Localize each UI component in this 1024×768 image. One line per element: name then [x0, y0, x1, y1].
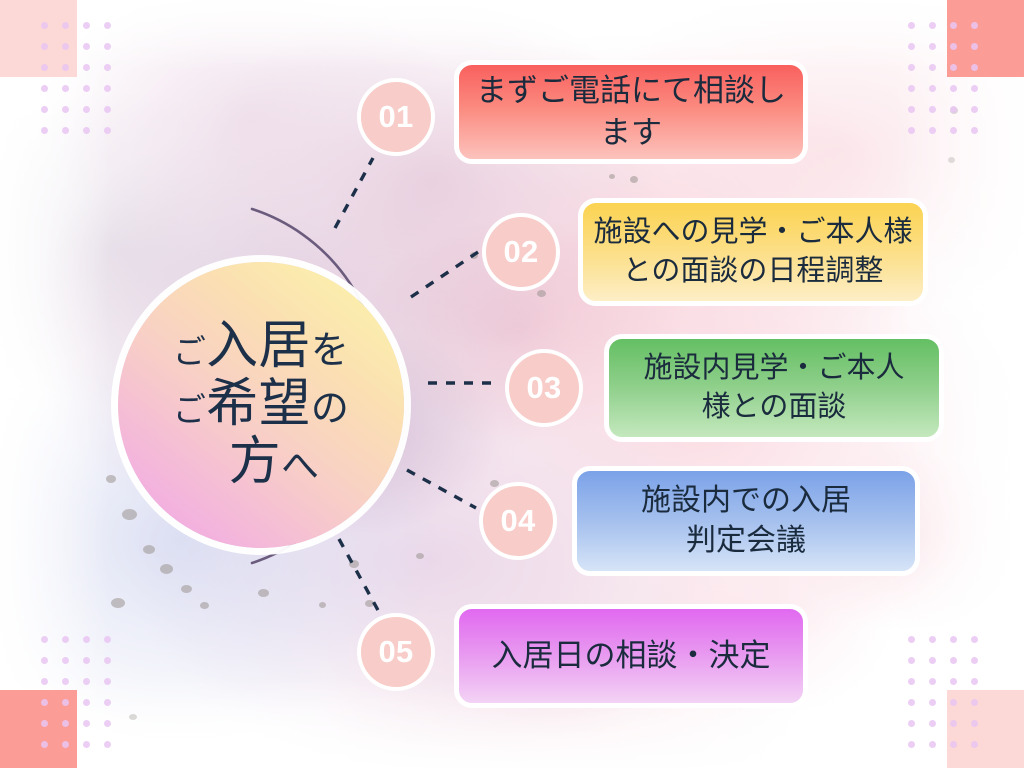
grid-dot — [950, 22, 957, 29]
step-number-02[interactable]: 02 — [482, 213, 560, 291]
step-number-01[interactable]: 01 — [357, 78, 435, 156]
grid-dot — [83, 22, 90, 29]
grid-dot — [104, 43, 111, 50]
grid-dot — [83, 43, 90, 50]
grid-dot — [950, 678, 957, 685]
dot-grid-top-right — [908, 22, 998, 152]
connector-02 — [411, 252, 478, 297]
grid-dot — [62, 636, 69, 643]
grid-dot — [929, 699, 936, 706]
grid-dot — [83, 127, 90, 134]
grid-dot — [950, 43, 957, 50]
grid-dot — [104, 678, 111, 685]
grid-dot — [41, 127, 48, 134]
dot-grid-bottom-right — [908, 636, 998, 766]
dot-grid-top-left — [41, 22, 131, 152]
grid-dot — [83, 636, 90, 643]
step-number-04[interactable]: 04 — [479, 482, 557, 560]
grid-dot — [971, 699, 978, 706]
grid-dot — [929, 43, 936, 50]
grid-dot — [83, 741, 90, 748]
grid-dot — [908, 741, 915, 748]
grid-dot — [950, 106, 957, 113]
grid-dot — [62, 85, 69, 92]
grid-dot — [971, 64, 978, 71]
grid-dot — [62, 127, 69, 134]
grid-dot — [929, 106, 936, 113]
grid-dot — [83, 720, 90, 727]
grid-dot — [41, 636, 48, 643]
center-text-line-2: ご 希望 の — [173, 379, 349, 431]
step-box-02-label: 施設への見学・ご本人様 との面談の日程調整 — [583, 213, 922, 291]
center-line-1-trailing: を — [311, 332, 349, 370]
grid-dot — [971, 636, 978, 643]
connector-05 — [339, 539, 379, 612]
grid-dot — [971, 678, 978, 685]
step-box-01[interactable]: まずご電話にて相談します — [454, 60, 808, 164]
center-circle-text: ご 入居 を ご 希望 の 方 へ — [118, 262, 404, 548]
grid-dot — [971, 741, 978, 748]
grid-dot — [908, 636, 915, 643]
grid-dot — [41, 720, 48, 727]
dot-grid-bottom-left — [41, 636, 131, 766]
grid-dot — [908, 678, 915, 685]
grid-dot — [83, 106, 90, 113]
grid-dot — [104, 741, 111, 748]
grid-dot — [929, 85, 936, 92]
grid-dot — [908, 22, 915, 29]
step-number-03[interactable]: 03 — [505, 349, 583, 427]
grid-dot — [104, 699, 111, 706]
grid-dot — [971, 22, 978, 29]
connector-01 — [335, 158, 373, 228]
step-box-04-label: 施設内での入居 判定会議 — [631, 481, 861, 561]
step-box-05-label: 入居日の相談・決定 — [482, 635, 781, 677]
grid-dot — [83, 64, 90, 71]
grid-dot — [971, 43, 978, 50]
grid-dot — [950, 127, 957, 134]
grid-dot — [950, 657, 957, 664]
grid-dot — [62, 657, 69, 664]
grid-dot — [41, 106, 48, 113]
step-box-02[interactable]: 施設への見学・ご本人様 との面談の日程調整 — [578, 198, 928, 306]
step-box-01-label: まずご電話にて相談します — [459, 70, 803, 153]
center-line-1-large: 入居 — [206, 321, 311, 373]
grid-dot — [104, 636, 111, 643]
grid-dot — [41, 22, 48, 29]
grid-dot — [104, 22, 111, 29]
step-box-03-label: 施設内見学・ご本人 様との面談 — [633, 349, 914, 427]
grid-dot — [104, 657, 111, 664]
grid-dot — [41, 678, 48, 685]
grid-dot — [950, 699, 957, 706]
grid-dot — [41, 699, 48, 706]
grid-dot — [908, 106, 915, 113]
grid-dot — [908, 699, 915, 706]
grid-dot — [929, 720, 936, 727]
grid-dot — [908, 657, 915, 664]
center-line-2-small: ご — [173, 395, 206, 428]
grid-dot — [104, 85, 111, 92]
grid-dot — [929, 64, 936, 71]
grid-dot — [950, 64, 957, 71]
grid-dot — [62, 43, 69, 50]
grid-dot — [104, 106, 111, 113]
grid-dot — [62, 720, 69, 727]
grid-dot — [83, 678, 90, 685]
grid-dot — [62, 699, 69, 706]
grid-dot — [950, 636, 957, 643]
grid-dot — [908, 64, 915, 71]
center-text-line-3: 方 へ — [229, 437, 320, 489]
step-box-04[interactable]: 施設内での入居 判定会議 — [572, 466, 920, 576]
grid-dot — [104, 127, 111, 134]
center-line-1-small: ご — [173, 337, 206, 370]
grid-dot — [104, 64, 111, 71]
grid-dot — [62, 741, 69, 748]
grid-dot — [41, 85, 48, 92]
grid-dot — [908, 127, 915, 134]
connector-04 — [407, 470, 476, 508]
grid-dot — [83, 85, 90, 92]
grid-dot — [41, 741, 48, 748]
grid-dot — [908, 720, 915, 727]
grid-dot — [929, 741, 936, 748]
grid-dot — [971, 657, 978, 664]
grid-dot — [929, 657, 936, 664]
grid-dot — [929, 127, 936, 134]
center-line-2-trailing: の — [311, 390, 349, 428]
grid-dot — [950, 720, 957, 727]
grid-dot — [62, 22, 69, 29]
slide-canvas: ご 入居 を ご 希望 の 方 へ 01 02 03 04 05 まずご電話にて… — [0, 0, 1024, 768]
grid-dot — [971, 106, 978, 113]
grid-dot — [41, 43, 48, 50]
grid-dot — [929, 678, 936, 685]
grid-dot — [41, 64, 48, 71]
center-text-line-1: ご 入居 を — [173, 321, 349, 373]
grid-dot — [104, 720, 111, 727]
grid-dot — [83, 657, 90, 664]
grid-dot — [83, 699, 90, 706]
grid-dot — [41, 657, 48, 664]
grid-dot — [971, 720, 978, 727]
grid-dot — [62, 106, 69, 113]
grid-dot — [929, 22, 936, 29]
center-line-3-trailing: へ — [281, 448, 319, 486]
grid-dot — [62, 64, 69, 71]
grid-dot — [950, 85, 957, 92]
step-number-05[interactable]: 05 — [357, 613, 435, 691]
grid-dot — [971, 85, 978, 92]
grid-dot — [908, 43, 915, 50]
center-line-2-large: 希望 — [206, 379, 311, 431]
grid-dot — [908, 85, 915, 92]
step-box-03[interactable]: 施設内見学・ご本人 様との面談 — [604, 334, 944, 442]
grid-dot — [62, 678, 69, 685]
step-box-05[interactable]: 入居日の相談・決定 — [454, 604, 808, 708]
center-line-3-large: 方 — [229, 437, 281, 489]
grid-dot — [929, 636, 936, 643]
grid-dot — [971, 127, 978, 134]
grid-dot — [950, 741, 957, 748]
